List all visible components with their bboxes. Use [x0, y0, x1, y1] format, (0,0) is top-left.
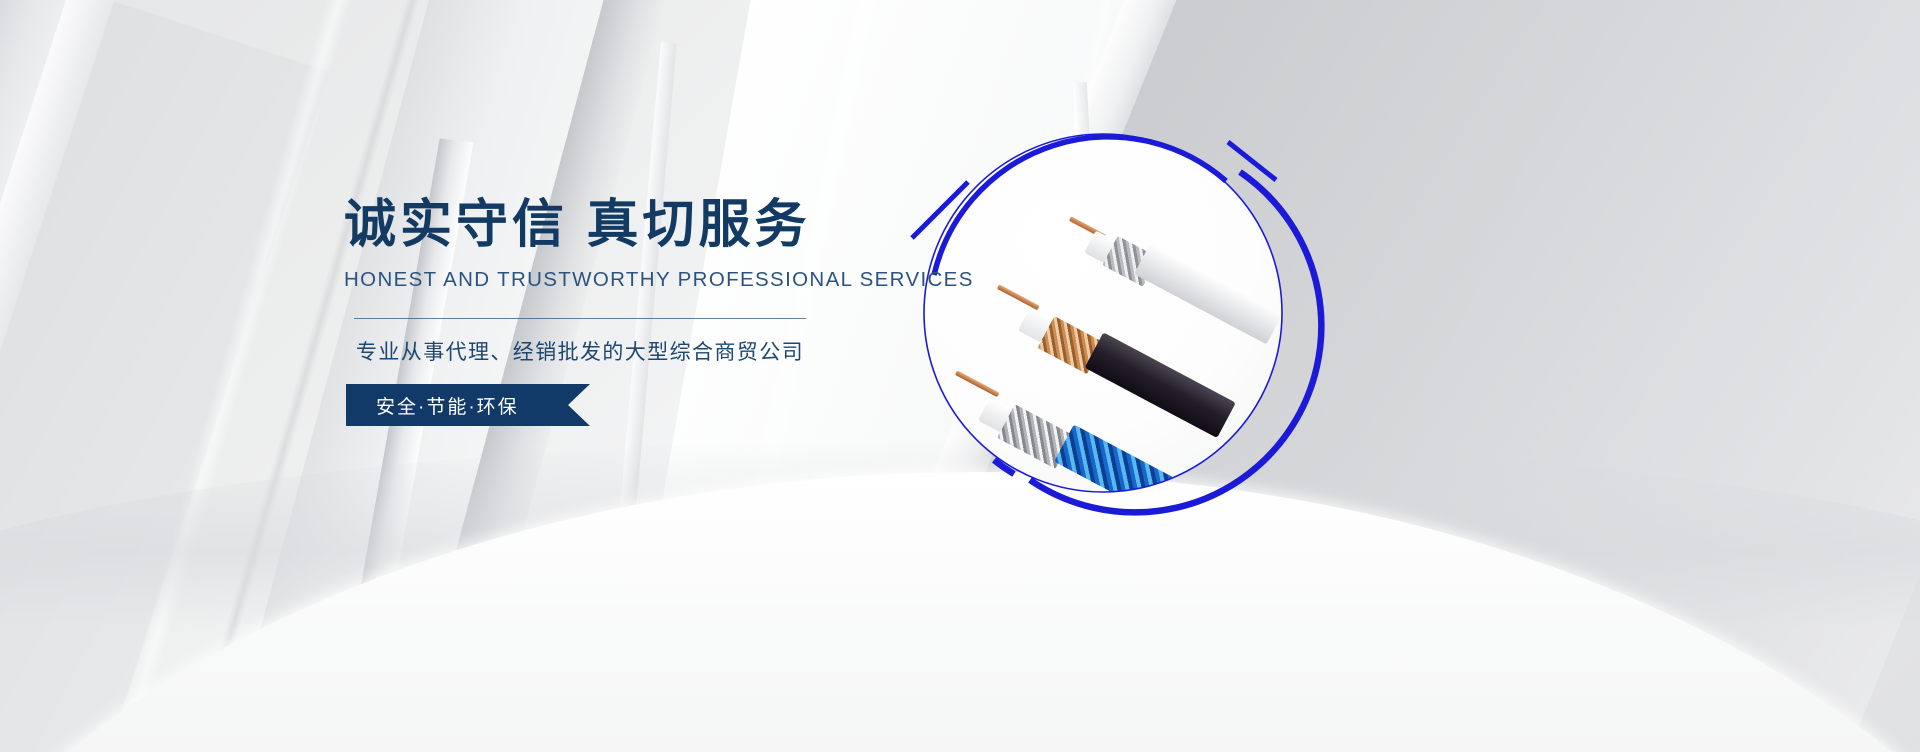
feature-ribbon-badge: 安全·节能·环保: [346, 384, 590, 426]
accent-ring-tangent-tick-right: [1228, 142, 1276, 180]
feature-ribbon-label: 安全·节能·环保: [346, 392, 519, 419]
accent-ring-arc-top: [934, 137, 1226, 275]
hero-banner: 诚实守信 真切服务 HONEST AND TRUSTWORTHY PROFESS…: [0, 0, 1920, 752]
banner-headline: 诚实守信 真切服务: [344, 196, 864, 254]
accent-ring: [910, 120, 1296, 506]
banner-tagline: 专业从事代理、经销批发的大型综合商贸公司: [356, 336, 864, 366]
banner-divider-rule: [354, 318, 806, 319]
product-medallion: [910, 120, 1296, 506]
accent-ring-thin-circle: [924, 134, 1282, 492]
accent-ring-arc-right: [1030, 172, 1321, 512]
banner-subheadline: HONEST AND TRUSTWORTHY PROFESSIONAL SERV…: [344, 268, 864, 292]
accent-ring-tangent-tick-left: [912, 182, 968, 238]
banner-copy-block: 诚实守信 真切服务 HONEST AND TRUSTWORTHY PROFESS…: [344, 196, 864, 366]
